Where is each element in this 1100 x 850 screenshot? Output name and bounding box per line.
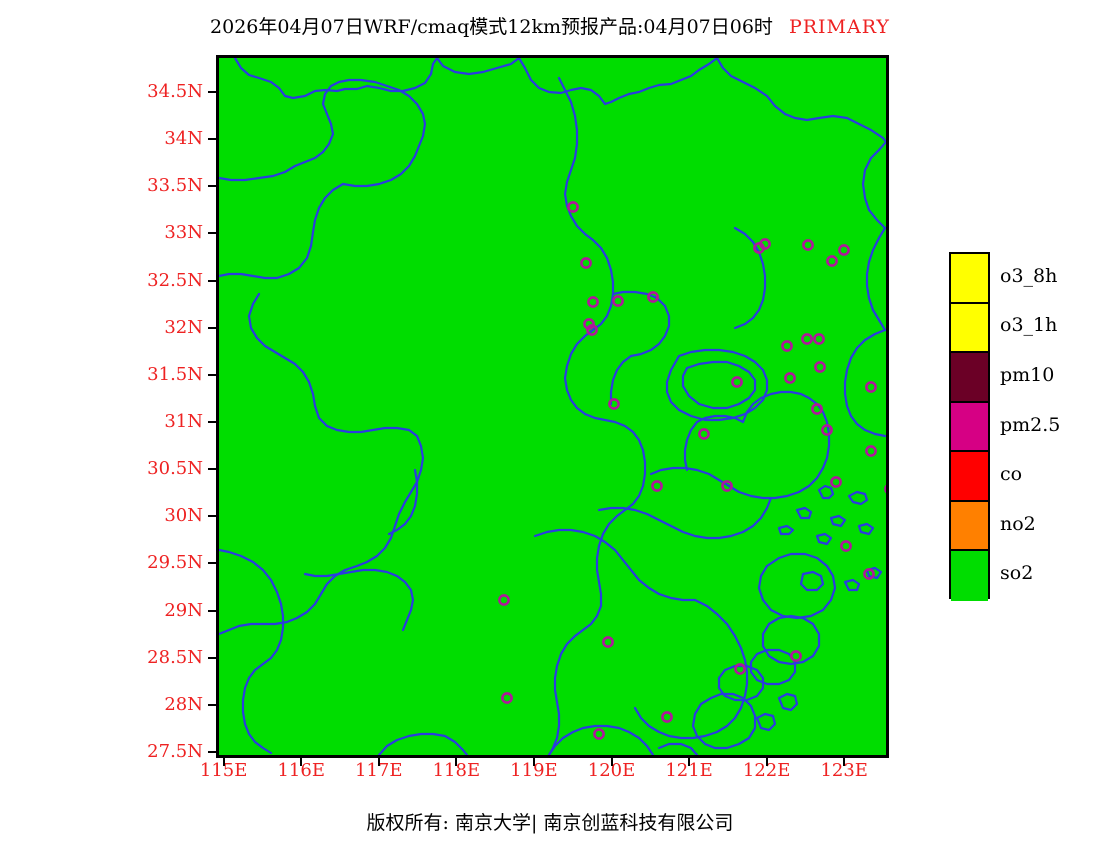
y-axis-tick-mark (208, 421, 217, 423)
station-marker[interactable] (814, 334, 823, 343)
station-marker[interactable] (613, 296, 622, 305)
y-axis-tick-mark (208, 610, 217, 612)
x-axis-tick-mark (611, 757, 613, 766)
map-vector-layer (219, 58, 886, 755)
x-axis-tick-mark (223, 757, 225, 766)
station-marker[interactable] (839, 245, 848, 254)
x-axis-tick-mark (688, 757, 690, 766)
legend-swatch-co[interactable] (951, 452, 988, 502)
station-marker[interactable] (603, 637, 612, 646)
station-marker[interactable] (841, 541, 850, 550)
station-marker[interactable] (802, 334, 811, 343)
y-axis-tick-mark (208, 562, 217, 564)
y-axis-tick-mark (208, 704, 217, 706)
station-marker[interactable] (831, 477, 840, 486)
y-axis-tick-text: 28N (164, 694, 203, 715)
legend-label-o3_1h: o3_1h (1000, 314, 1057, 336)
y-axis-tick-text: 32.5N (147, 270, 203, 291)
station-marker[interactable] (588, 297, 597, 306)
y-axis-tick-mark (208, 374, 217, 376)
copyright-footer: 版权所有: 南京大学| 南京创蓝科技有限公司 (0, 808, 1100, 835)
y-axis-tick-mark (208, 91, 217, 93)
map-plot-area[interactable] (216, 55, 889, 758)
legend-swatch-pm2-5[interactable] (951, 403, 988, 453)
y-axis-tick-text: 31.5N (147, 364, 203, 385)
legend-label-pm2-5: pm2.5 (1000, 414, 1060, 436)
station-marker[interactable] (732, 377, 741, 386)
x-axis-tick-mark (378, 757, 380, 766)
legend-label-so2: so2 (1000, 562, 1033, 584)
legend-label-co: co (1000, 463, 1022, 485)
legend-label-pm10: pm10 (1000, 364, 1054, 386)
y-axis-tick-text: 30.5N (147, 458, 203, 479)
y-axis-tick-text: 34.5N (147, 81, 203, 102)
x-axis-tick-mark (455, 757, 457, 766)
x-axis-tick-mark (300, 757, 302, 766)
station-marker[interactable] (785, 373, 794, 382)
station-marker[interactable] (782, 341, 791, 350)
legend-swatch-o3_1h[interactable] (951, 304, 988, 354)
y-axis-tick-text: 33.5N (147, 175, 203, 196)
station-marker[interactable] (827, 256, 836, 265)
y-axis-tick-text: 28.5N (147, 647, 203, 668)
y-axis-tick-text: 29N (164, 600, 203, 621)
y-axis-tick-mark (208, 232, 217, 234)
legend-color-bar[interactable] (949, 252, 990, 599)
legend-swatch-o3_8h[interactable] (951, 254, 988, 304)
y-axis-tick-text: 34N (164, 128, 203, 149)
x-axis-tick-mark (843, 757, 845, 766)
y-axis-tick-mark (208, 468, 217, 470)
station-marker[interactable] (499, 595, 508, 604)
title-primary-flag: PRIMARY (789, 16, 890, 38)
station-marker[interactable] (502, 693, 511, 702)
y-axis-tick-mark (208, 185, 217, 187)
y-axis-tick-mark (208, 280, 217, 282)
y-axis-tick-text: 27.5N (147, 741, 203, 762)
y-axis-tick-text: 31N (164, 411, 203, 432)
y-axis-tick-text: 29.5N (147, 552, 203, 573)
y-axis-tick-mark (208, 751, 217, 753)
legend-swatch-no2[interactable] (951, 502, 988, 552)
legend-label-o3_8h: o3_8h (1000, 265, 1057, 287)
y-axis-labels: 34.5N34N33.5N33N32.5N32N31.5N31N30.5N30N… (0, 0, 203, 850)
legend-swatch-so2[interactable] (951, 551, 988, 601)
station-marker[interactable] (803, 240, 812, 249)
station-marker[interactable] (866, 382, 875, 391)
y-axis-tick-text: 30N (164, 505, 203, 526)
station-markers (499, 202, 886, 738)
station-marker[interactable] (581, 258, 590, 267)
y-axis-tick-text: 33N (164, 222, 203, 243)
station-marker[interactable] (594, 729, 603, 738)
y-axis-tick-mark (208, 515, 217, 517)
station-marker[interactable] (652, 481, 661, 490)
station-marker[interactable] (815, 362, 824, 371)
y-axis-tick-mark (208, 138, 217, 140)
title-main-text: 2026年04月07日WRF/cmaq模式12km预报产品:04月07日06时 (210, 16, 773, 38)
x-axis-tick-mark (766, 757, 768, 766)
station-marker[interactable] (699, 429, 708, 438)
legend-swatch-pm10[interactable] (951, 353, 988, 403)
y-axis-tick-text: 32N (164, 317, 203, 338)
legend-label-no2: no2 (1000, 513, 1036, 535)
station-marker[interactable] (866, 446, 875, 455)
x-axis-tick-mark (533, 757, 535, 766)
station-marker[interactable] (885, 484, 886, 493)
y-axis-tick-mark (208, 657, 217, 659)
station-marker[interactable] (662, 712, 671, 721)
y-axis-tick-mark (208, 327, 217, 329)
station-marker[interactable] (568, 202, 577, 211)
station-marker[interactable] (791, 651, 800, 660)
